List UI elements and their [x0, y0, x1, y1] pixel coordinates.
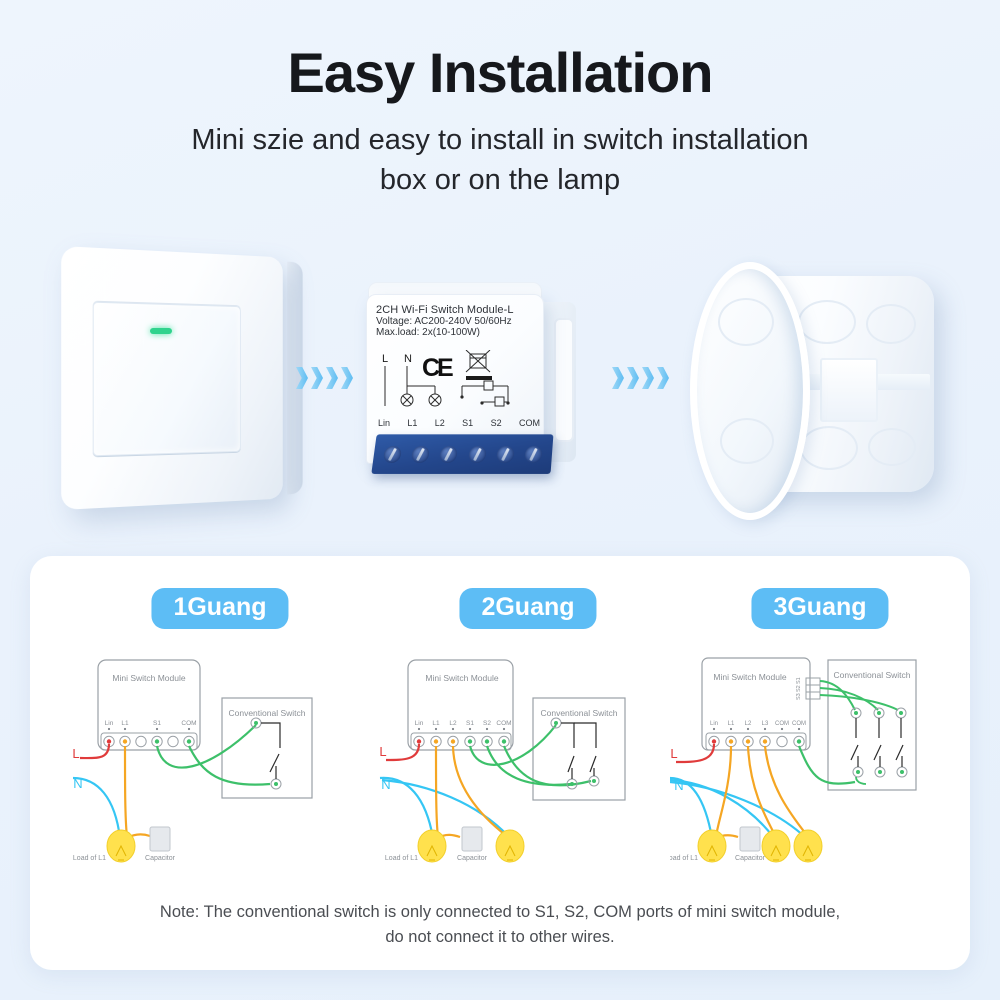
module-clip	[554, 318, 574, 442]
chevron-right-icon	[326, 367, 338, 389]
capacitor-label-3: Capacitor	[735, 855, 766, 862]
terminal-screw-icon	[411, 446, 430, 463]
terminal-label: S1	[153, 720, 161, 727]
module-symbol-area: L N CE	[378, 350, 538, 412]
module-terminal-labels: Lin L1 L2 S1 S2 COM	[378, 418, 540, 428]
side-terminal-label: S3	[796, 693, 802, 700]
terminal-label: L1	[121, 720, 129, 727]
bulb-icon-3b	[762, 830, 790, 862]
side-terminal-label: S1	[796, 677, 802, 684]
footer-note: Note: The conventional switch is only co…	[40, 900, 960, 950]
chevron-right-icon	[627, 367, 639, 389]
subtitle-line-1: Mini szie and easy to install in switch …	[50, 120, 950, 160]
terminal-label: L1	[728, 721, 735, 727]
load-label-2: Load of L1	[385, 855, 418, 862]
load-label-3: Load of L1	[670, 855, 698, 862]
module-title-3: Mini Switch Module	[713, 672, 786, 682]
live-label-2: L	[379, 744, 386, 759]
terminal-label: L1	[407, 418, 417, 428]
wall-switch-rocker	[93, 302, 241, 457]
module-printed-label: 2CH Wi-Fi Switch Module-L Voltage: AC200…	[376, 304, 542, 338]
capacitor-label-1: Capacitor	[145, 855, 176, 862]
terminal-label: S2	[483, 720, 491, 727]
badge-2guang: 2Guang	[459, 588, 596, 629]
knockout-icon	[798, 300, 856, 344]
chevron-right-icon	[296, 367, 308, 389]
terminal-label: COM	[496, 720, 511, 727]
wiring-diagram-2guang: 2Guang Mini Switch Module Conventional S…	[378, 588, 678, 888]
terminal-label: L3	[762, 721, 769, 727]
terminal-block	[371, 434, 553, 474]
capacitor-icon	[150, 827, 170, 851]
knockout-icon	[800, 426, 858, 470]
chevron-right-icon	[657, 367, 669, 389]
switch-module-photo: 2CH Wi-Fi Switch Module-L Voltage: AC200…	[358, 278, 590, 510]
terminal-label: Lin	[710, 721, 718, 727]
module-title-1: Mini Switch Module	[112, 673, 185, 683]
terminal-label: COM	[792, 721, 806, 727]
junction-box-bridge	[820, 358, 878, 422]
note-line-2: do not connect it to other wires.	[40, 925, 960, 950]
knockout-icon	[720, 418, 774, 464]
terminal-label: COM	[181, 720, 196, 727]
page-title: Easy Installation	[0, 42, 1000, 104]
bulb-icon-2a	[418, 830, 446, 862]
bulb-icon-3a	[698, 830, 726, 862]
chevron-right-icon	[311, 367, 323, 389]
page-subtitle: Mini szie and easy to install in switch …	[50, 120, 950, 200]
knockout-icon	[868, 428, 916, 466]
module-name-label: 2CH Wi-Fi Switch Module-L	[376, 304, 542, 316]
terminal-label: L1	[432, 720, 440, 727]
neutral-label-3: N	[674, 778, 683, 793]
live-label-1: L	[72, 746, 79, 761]
terminal-label: S1	[462, 418, 473, 428]
terminal-label: L2	[745, 721, 752, 727]
arrow-group-right	[612, 367, 669, 389]
terminal-label: L2	[449, 720, 457, 727]
terminal-screw-icon	[383, 446, 402, 463]
chevron-right-icon	[341, 367, 353, 389]
badge-1guang: 1Guang	[151, 588, 288, 629]
bulb-icon-1	[107, 830, 135, 862]
terminal-label: S2	[491, 418, 502, 428]
svg-text:N: N	[404, 353, 412, 365]
neutral-label-2: N	[381, 777, 390, 792]
svg-text:L: L	[382, 353, 388, 365]
note-line-1: Note: The conventional switch is only co…	[40, 900, 960, 925]
diagram-2guang-svg: Mini Switch Module Conventional Switch L…	[378, 588, 678, 888]
terminal-label: Lin	[378, 418, 390, 428]
terminal-screw-icon	[468, 446, 487, 463]
neutral-label-1: N	[73, 776, 82, 791]
knockout-icon	[718, 298, 774, 346]
terminal-label: Lin	[415, 720, 424, 727]
module-voltage-label: Voltage: AC200-240V 50/60Hz	[376, 316, 542, 327]
load-label-1: Load of L1	[73, 855, 106, 862]
switch-title-2: Conventional Switch	[540, 708, 617, 718]
wall-switch-photo	[62, 252, 292, 504]
diagram-1guang-svg: Mini Switch Module Conventional Switch L…	[70, 588, 370, 888]
switch-title-1: Conventional Switch	[228, 708, 305, 718]
live-label-3: L	[670, 746, 677, 761]
chevron-right-icon	[612, 367, 624, 389]
side-terminal-label: S2	[796, 685, 802, 692]
module-title-2: Mini Switch Module	[425, 673, 498, 683]
knockout-icon	[866, 304, 916, 344]
capacitor-icon	[740, 827, 760, 851]
terminal-label: L2	[435, 418, 445, 428]
capacitor-label-2: Capacitor	[457, 855, 488, 862]
badge-3guang: 3Guang	[751, 588, 888, 629]
arrow-group-left	[296, 367, 353, 389]
subtitle-line-2: box or on the lamp	[50, 160, 950, 200]
wiring-diagram-1guang: 1Guang Mini Switch Module Conventional S…	[70, 588, 370, 888]
module-load-label: Max.load: 2x(10-100W)	[376, 327, 542, 338]
terminal-label: COM	[519, 418, 540, 428]
switch-title-3: Conventional Switch	[833, 670, 910, 680]
terminal-screw-icon	[439, 446, 458, 463]
terminal-label: Lin	[105, 720, 114, 727]
bulb-icon-3c	[794, 830, 822, 862]
capacitor-icon	[462, 827, 482, 851]
terminal-screw-icon	[525, 446, 543, 463]
module-wiring-symbol: L N CE	[378, 350, 538, 412]
junction-box-photo	[690, 262, 948, 508]
chevron-right-icon	[642, 367, 654, 389]
bulb-icon-2b	[496, 830, 524, 862]
hero-section: Easy Installation Mini szie and easy to …	[0, 0, 1000, 556]
terminal-label: COM	[775, 721, 789, 727]
diagram-3guang-svg: Mini Switch Module Conventional Switch S…	[670, 588, 970, 888]
svg-text:CE: CE	[422, 354, 453, 382]
terminal-label: S1	[466, 720, 474, 727]
indicator-led-icon	[150, 328, 172, 334]
wiring-diagram-3guang: 3Guang Mini Switch Module Conventional S…	[670, 588, 970, 888]
terminal-screw-icon	[496, 446, 515, 463]
